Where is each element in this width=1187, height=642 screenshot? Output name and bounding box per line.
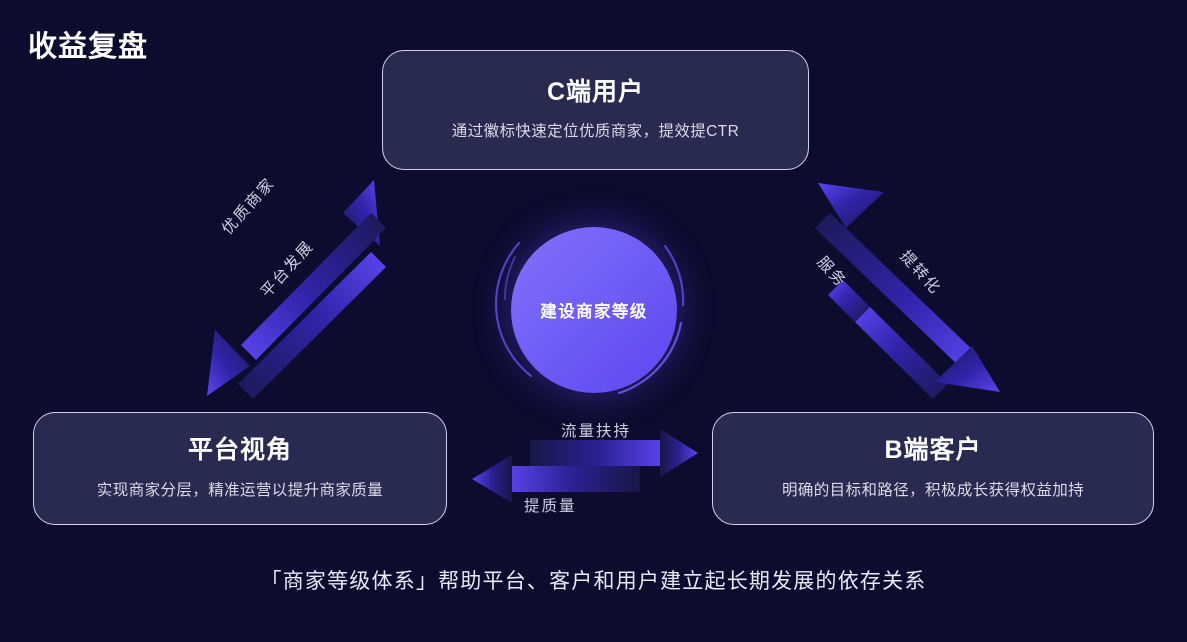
arrow-right-down [815, 213, 1000, 392]
node-desc: 实现商家分层，精准运营以提升商家质量 [97, 478, 383, 500]
arrow-label-right-up: 服务 [813, 251, 853, 292]
node-title: B端客户 [884, 437, 981, 465]
arrow-label-left-down: 平台发展 [255, 235, 318, 302]
arrow-label-right-down: 提转化 [896, 245, 947, 299]
node-desc: 明确的目标和路径，积极成长获得权益加持 [782, 478, 1084, 500]
arrow-label-left-up: 优质商家 [216, 172, 279, 239]
node-title: C端用户 [547, 79, 644, 107]
diagram-canvas: 收益复盘 [0, 0, 1187, 642]
center-circle: 建设商家等级 [511, 227, 677, 393]
node-desc: 通过徽标快速定位优质商家，提效提CTR [452, 119, 739, 141]
center-label: 建设商家等级 [540, 298, 647, 322]
center-node: 建设商家等级 [497, 213, 691, 407]
node-title: 平台视角 [188, 437, 292, 465]
node-card-c-user[interactable]: C端用户 通过徽标快速定位优质商家，提效提CTR [382, 50, 809, 170]
arrow-label-bottom-left: 提质量 [524, 494, 577, 516]
arrow-label-bottom-right: 流量扶持 [561, 419, 631, 441]
footer-note: 「商家等级体系」帮助平台、客户和用户建立起长期发展的依存关系 [0, 565, 1187, 595]
page-title: 收益复盘 [28, 23, 148, 65]
node-card-platform[interactable]: 平台视角 实现商家分层，精准运营以提升商家质量 [33, 412, 447, 525]
node-card-b-client[interactable]: B端客户 明确的目标和路径，积极成长获得权益加持 [712, 412, 1154, 525]
